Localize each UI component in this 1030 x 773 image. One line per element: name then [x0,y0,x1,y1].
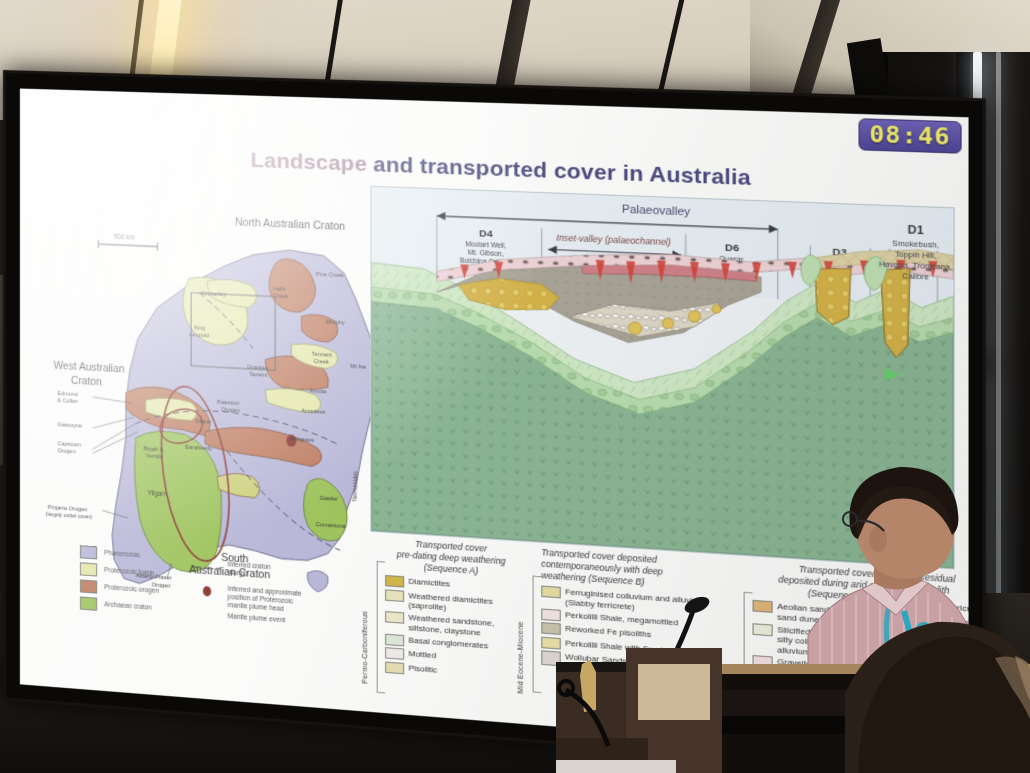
title-lead: Landscape [251,149,367,177]
title-rest: and transported cover in Australia [367,153,751,191]
map-craton-label: Craton [71,375,102,388]
xsec-header: Palaeovalley [622,203,691,218]
legend-swatch [385,661,404,674]
map-region-label: Yerrida [146,453,164,460]
legend-swatch [541,586,561,599]
legend-swatch [80,545,97,559]
legend-column-sequence-a: Transported cover pre-dating deep weathe… [385,537,517,685]
map-region-label: Leopold [189,332,209,339]
legend-label: Inferred craton margin [228,561,271,580]
legend-swatch [385,647,404,660]
map-legend-row: Proterozoic basin [80,562,159,581]
map-region-label: Amadeus [301,408,325,416]
map-region-label: Creek [314,359,329,366]
map-region-label: Tasmanides [352,471,359,503]
legend-axis-label: Permo-Carboniferous [362,570,369,684]
page-title: Landscape and transported cover in Austr… [222,148,781,193]
map-region-label: Musgrave [289,436,314,444]
legend-label: Mottled [408,649,436,661]
xsec-site: Toppin Hill, [895,249,936,260]
map-legend-row: Inferred craton margin [194,559,302,582]
map-legend-row: Proterozoic orogen [80,579,159,598]
legend-swatch [80,579,97,593]
legend-bracket [377,561,385,694]
conference-room: 08:46 Landscape and transported cover in… [0,0,1030,773]
clock-display: 08:46 [859,118,962,154]
legend-swatch [80,562,97,576]
map-region-label: Arunta [310,388,328,395]
xsec-deposit-code: D6 [725,242,740,254]
map-region-label: Gascoyne [57,422,82,430]
legend-label: Phanerozoic [104,549,140,559]
legend-swatch [385,575,404,588]
map-scalebar [98,240,157,251]
lectern [556,642,816,773]
map-craton-label: West Australian [54,361,125,376]
legend-swatch [541,622,561,635]
map-craton-label: North Australian Craton [235,217,345,233]
legend-label: Pisolitic [408,663,437,675]
legend-label: Weathered sandstone, siltstone, clayston… [408,613,494,639]
map-region-label: Officer [195,419,211,426]
legend-bracket [533,576,542,693]
map-region-label: Halls [273,286,286,293]
map-legend-row: Inferred and approximate position of Pro… [194,584,302,615]
legend-swatch [541,608,561,621]
map-scalebar-label: 500 km [114,234,135,242]
xsec-site: Smokebush, [892,238,939,250]
xsec-site: Calibre [902,271,929,282]
legend-label: Proterozoic orogen [104,584,159,596]
legend-swatch [753,623,773,636]
front-attendee [845,598,1030,773]
xsec-deposit-code: D4 [479,228,493,240]
map-region-label: Tanami [249,372,267,379]
map-region-label: Orogen [57,448,75,455]
legend-label: Archaean craton [104,601,152,612]
map-region-label: Mt Isa [350,364,367,371]
legend-swatch [385,611,404,624]
legend-label: Proterozoic basin [104,567,154,578]
map-region-label: Creek [273,293,288,300]
map-region-label: Granites [247,365,269,372]
plume-ellipse-icon [194,584,221,600]
map-region-label: King [194,325,205,332]
legend-swatch [385,589,404,602]
map-region-label: Gawler [320,496,338,503]
legend-column-title: Transported cover pre-dating deep weathe… [385,537,517,579]
legend-label: Mantle plume event [228,614,286,626]
xsec-deposit-code: D1 [908,224,924,238]
map-region-label: Yilgarn [148,490,168,498]
map-region-label: Edmund [57,391,77,398]
map-region-label: & Collier [57,398,78,405]
map-legend-row: Archaean craton [80,596,159,615]
legend-label: Weathered diamictites (saprolite) [408,591,492,616]
dashed-line-icon [194,563,221,573]
map-region-label: Pine Creek [316,272,344,280]
map-region-label: Murphy [326,319,345,326]
legend-swatch [80,596,97,610]
map-region-label: Orogen [221,407,240,414]
legend-swatch [753,600,773,613]
legend-swatch [385,633,404,646]
legend-axis-label: Mid Eocene-Miocene [517,593,525,694]
xsec-site: Havana, Tropicana, [879,259,952,272]
map-region-label: Tennant [312,352,333,359]
legend-label: Diamictites [408,577,450,590]
legend-label: Inferred and approximate position of Pro… [228,586,302,615]
xsec-d1-label-group: D1 Smokebush, Toppin Hill, Havana, Tropi… [861,217,969,308]
map-region-label: Kimberley [201,291,226,298]
